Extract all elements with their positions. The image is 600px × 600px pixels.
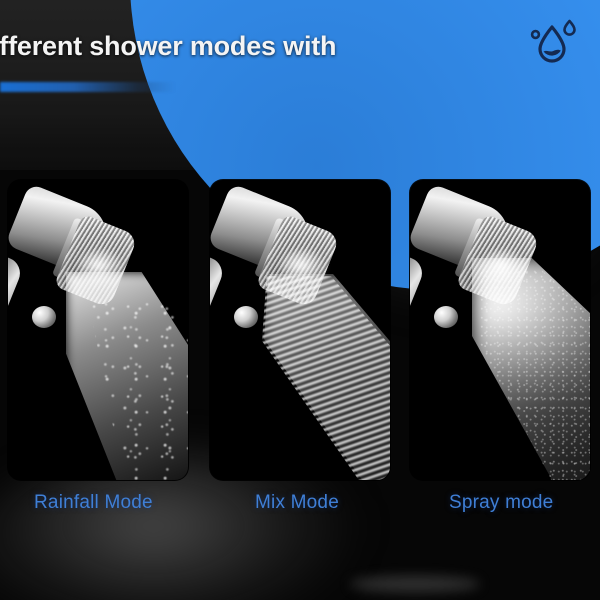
promo-graphic: ifferent shower modes with — [0, 0, 600, 600]
shower-mode-knob — [32, 306, 56, 328]
background-bottom-streak — [350, 576, 480, 592]
mode-panel-mix[interactable] — [210, 180, 390, 480]
shower-photo-spray — [410, 180, 590, 480]
mode-label-spray: Spray mode — [449, 492, 553, 514]
mode-panel-rainfall[interactable] — [8, 180, 188, 480]
mode-label-mix: Mix Mode — [255, 492, 339, 514]
water-drop-icon — [524, 16, 580, 70]
accent-underline-bar — [0, 82, 175, 92]
shower-handle — [410, 252, 427, 441]
mode-label-rainfall: Rainfall Mode — [34, 492, 153, 514]
shower-photo-rainfall — [8, 180, 188, 480]
shower-mode-knob — [434, 306, 458, 328]
shower-handle — [8, 252, 25, 441]
nozzle-glint — [78, 250, 124, 284]
mode-panel-spray[interactable] — [410, 180, 590, 480]
nozzle-glint — [280, 250, 326, 284]
water-mist-grain-spray — [480, 270, 590, 480]
shower-handle — [210, 252, 227, 441]
shower-mode-knob — [234, 306, 258, 328]
nozzle-glint — [480, 250, 526, 284]
page-title: ifferent shower modes with — [0, 32, 412, 62]
water-stream-mix — [262, 276, 390, 480]
shower-photo-mix — [210, 180, 390, 480]
